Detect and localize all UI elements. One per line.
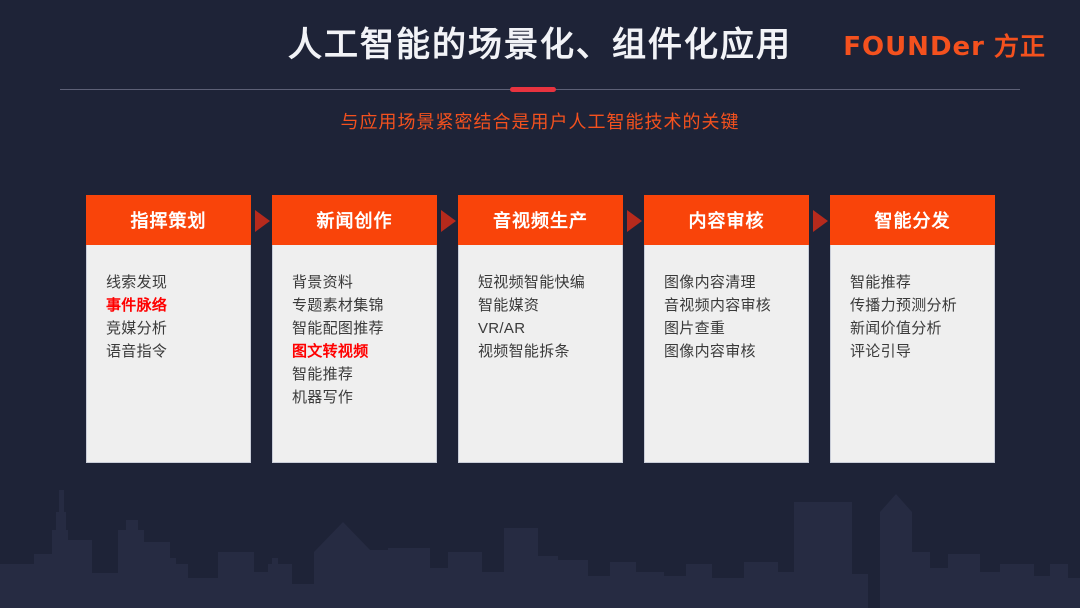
workflow-card[interactable]: 内容审核图像内容清理音视频内容审核图片查重图像内容审核 <box>644 195 809 463</box>
workflow-item[interactable]: 视频智能拆条 <box>478 340 622 363</box>
workflow-card-title[interactable]: 音视频生产 <box>458 195 623 245</box>
workflow-card-title[interactable]: 智能分发 <box>830 195 995 245</box>
workflow-item[interactable]: 智能媒资 <box>478 294 622 317</box>
workflow-card-row: 指挥策划线索发现事件脉络竞媒分析语音指令新闻创作背景资料专题素材集锦智能配图推荐… <box>86 195 995 463</box>
workflow-item[interactable]: 专题素材集锦 <box>292 294 436 317</box>
workflow-item[interactable]: 智能推荐 <box>850 271 994 294</box>
workflow-card-title[interactable]: 内容审核 <box>644 195 809 245</box>
founder-logo: FOUNDer方正 <box>843 31 1046 62</box>
workflow-item[interactable]: 音视频内容审核 <box>664 294 808 317</box>
arrow-right-icon <box>813 210 828 232</box>
workflow-item[interactable]: 传播力预测分析 <box>850 294 994 317</box>
workflow-item[interactable]: 竞媒分析 <box>106 317 250 340</box>
workflow-card-title[interactable]: 指挥策划 <box>86 195 251 245</box>
workflow-item[interactable]: 短视频智能快编 <box>478 271 622 294</box>
workflow-item-highlighted[interactable]: 事件脉络 <box>106 294 250 317</box>
workflow-item[interactable]: 新闻价值分析 <box>850 317 994 340</box>
workflow-item[interactable]: 评论引导 <box>850 340 994 363</box>
workflow-item[interactable]: 背景资料 <box>292 271 436 294</box>
workflow-card-body: 短视频智能快编智能媒资VR/AR视频智能拆条 <box>458 245 623 463</box>
workflow-card-body: 背景资料专题素材集锦智能配图推荐图文转视频智能推荐机器写作 <box>272 245 437 463</box>
workflow-item[interactable]: 智能配图推荐 <box>292 317 436 340</box>
arrow-right-icon <box>255 210 270 232</box>
workflow-item[interactable]: 语音指令 <box>106 340 250 363</box>
arrow-right-icon <box>627 210 642 232</box>
workflow-card[interactable]: 新闻创作背景资料专题素材集锦智能配图推荐图文转视频智能推荐机器写作 <box>272 195 437 463</box>
workflow-item[interactable]: 线索发现 <box>106 271 250 294</box>
logo-wordmark: FOUNDer <box>843 32 985 62</box>
workflow-card[interactable]: 指挥策划线索发现事件脉络竞媒分析语音指令 <box>86 195 251 463</box>
workflow-card-title[interactable]: 新闻创作 <box>272 195 437 245</box>
workflow-item[interactable]: 图片查重 <box>664 317 808 340</box>
header-divider-accent <box>510 87 556 92</box>
workflow-item[interactable]: 机器写作 <box>292 386 436 409</box>
workflow-card[interactable]: 智能分发智能推荐传播力预测分析新闻价值分析评论引导 <box>830 195 995 463</box>
workflow-item[interactable]: 图像内容审核 <box>664 340 808 363</box>
workflow-card-body: 智能推荐传播力预测分析新闻价值分析评论引导 <box>830 245 995 463</box>
logo-chinese-name: 方正 <box>994 33 1046 61</box>
slide-canvas: 人工智能的场景化、组件化应用 FOUNDer方正 与应用场景紧密结合是用户人工智… <box>0 0 1080 608</box>
workflow-item-highlighted[interactable]: 图文转视频 <box>292 340 436 363</box>
slide-header: 人工智能的场景化、组件化应用 FOUNDer方正 <box>0 0 1080 90</box>
page-subtitle: 与应用场景紧密结合是用户人工智能技术的关键 <box>0 109 1080 135</box>
workflow-item[interactable]: 图像内容清理 <box>664 271 808 294</box>
workflow-card-body: 图像内容清理音视频内容审核图片查重图像内容审核 <box>644 245 809 463</box>
workflow-card[interactable]: 音视频生产短视频智能快编智能媒资VR/AR视频智能拆条 <box>458 195 623 463</box>
workflow-item[interactable]: 智能推荐 <box>292 363 436 386</box>
arrow-right-icon <box>441 210 456 232</box>
workflow-item[interactable]: VR/AR <box>478 317 622 340</box>
city-skyline-decoration <box>0 468 1080 608</box>
workflow-card-body: 线索发现事件脉络竞媒分析语音指令 <box>86 245 251 463</box>
